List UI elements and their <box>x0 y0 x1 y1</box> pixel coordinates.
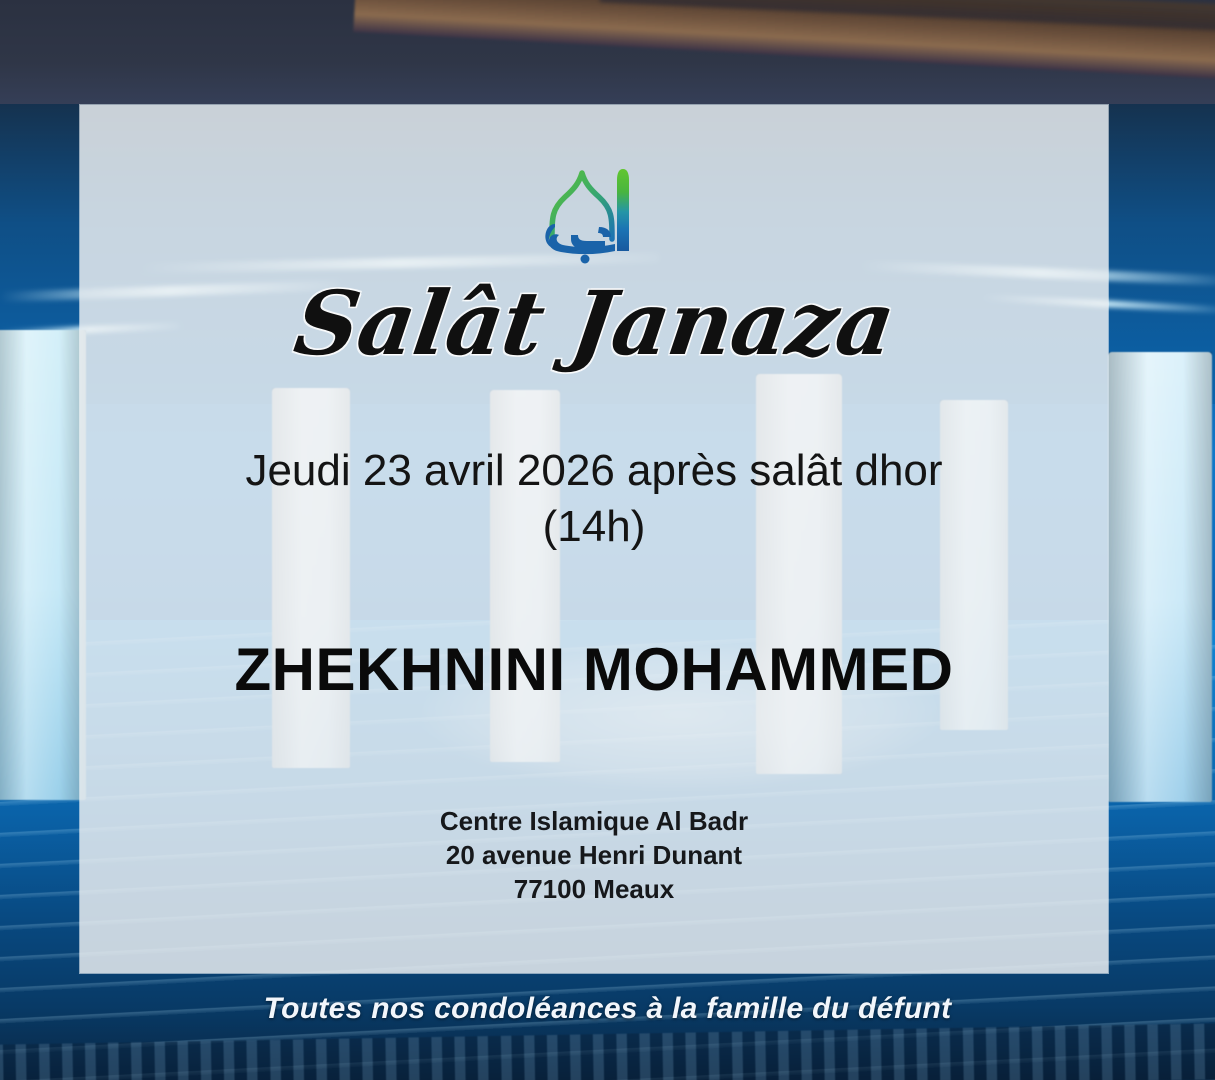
mosque-column <box>1108 352 1212 802</box>
deceased-name: ZHEKHNINI MOHAMMED <box>235 640 954 700</box>
mosque-column <box>0 330 86 800</box>
page-title: Salât Janaza <box>289 279 898 367</box>
salat-janaza-poster: Salât Janaza Jeudi 23 avril 2026 après s… <box>0 0 1215 1080</box>
venue-postal-city: 77100 Meaux <box>440 872 748 906</box>
event-date-time: Jeudi 23 avril 2026 après salât dhor (14… <box>224 443 964 556</box>
venue-street: 20 avenue Henri Dunant <box>440 838 748 872</box>
venue-name: Centre Islamique Al Badr <box>440 804 748 838</box>
condolences-caption: Toutes nos condoléances à la famille du … <box>0 992 1215 1026</box>
announcement-panel: Salât Janaza Jeudi 23 avril 2026 après s… <box>80 105 1108 973</box>
venue-address: Centre Islamique Al Badr 20 avenue Henri… <box>440 804 748 907</box>
al-badr-logo-icon <box>519 153 669 273</box>
